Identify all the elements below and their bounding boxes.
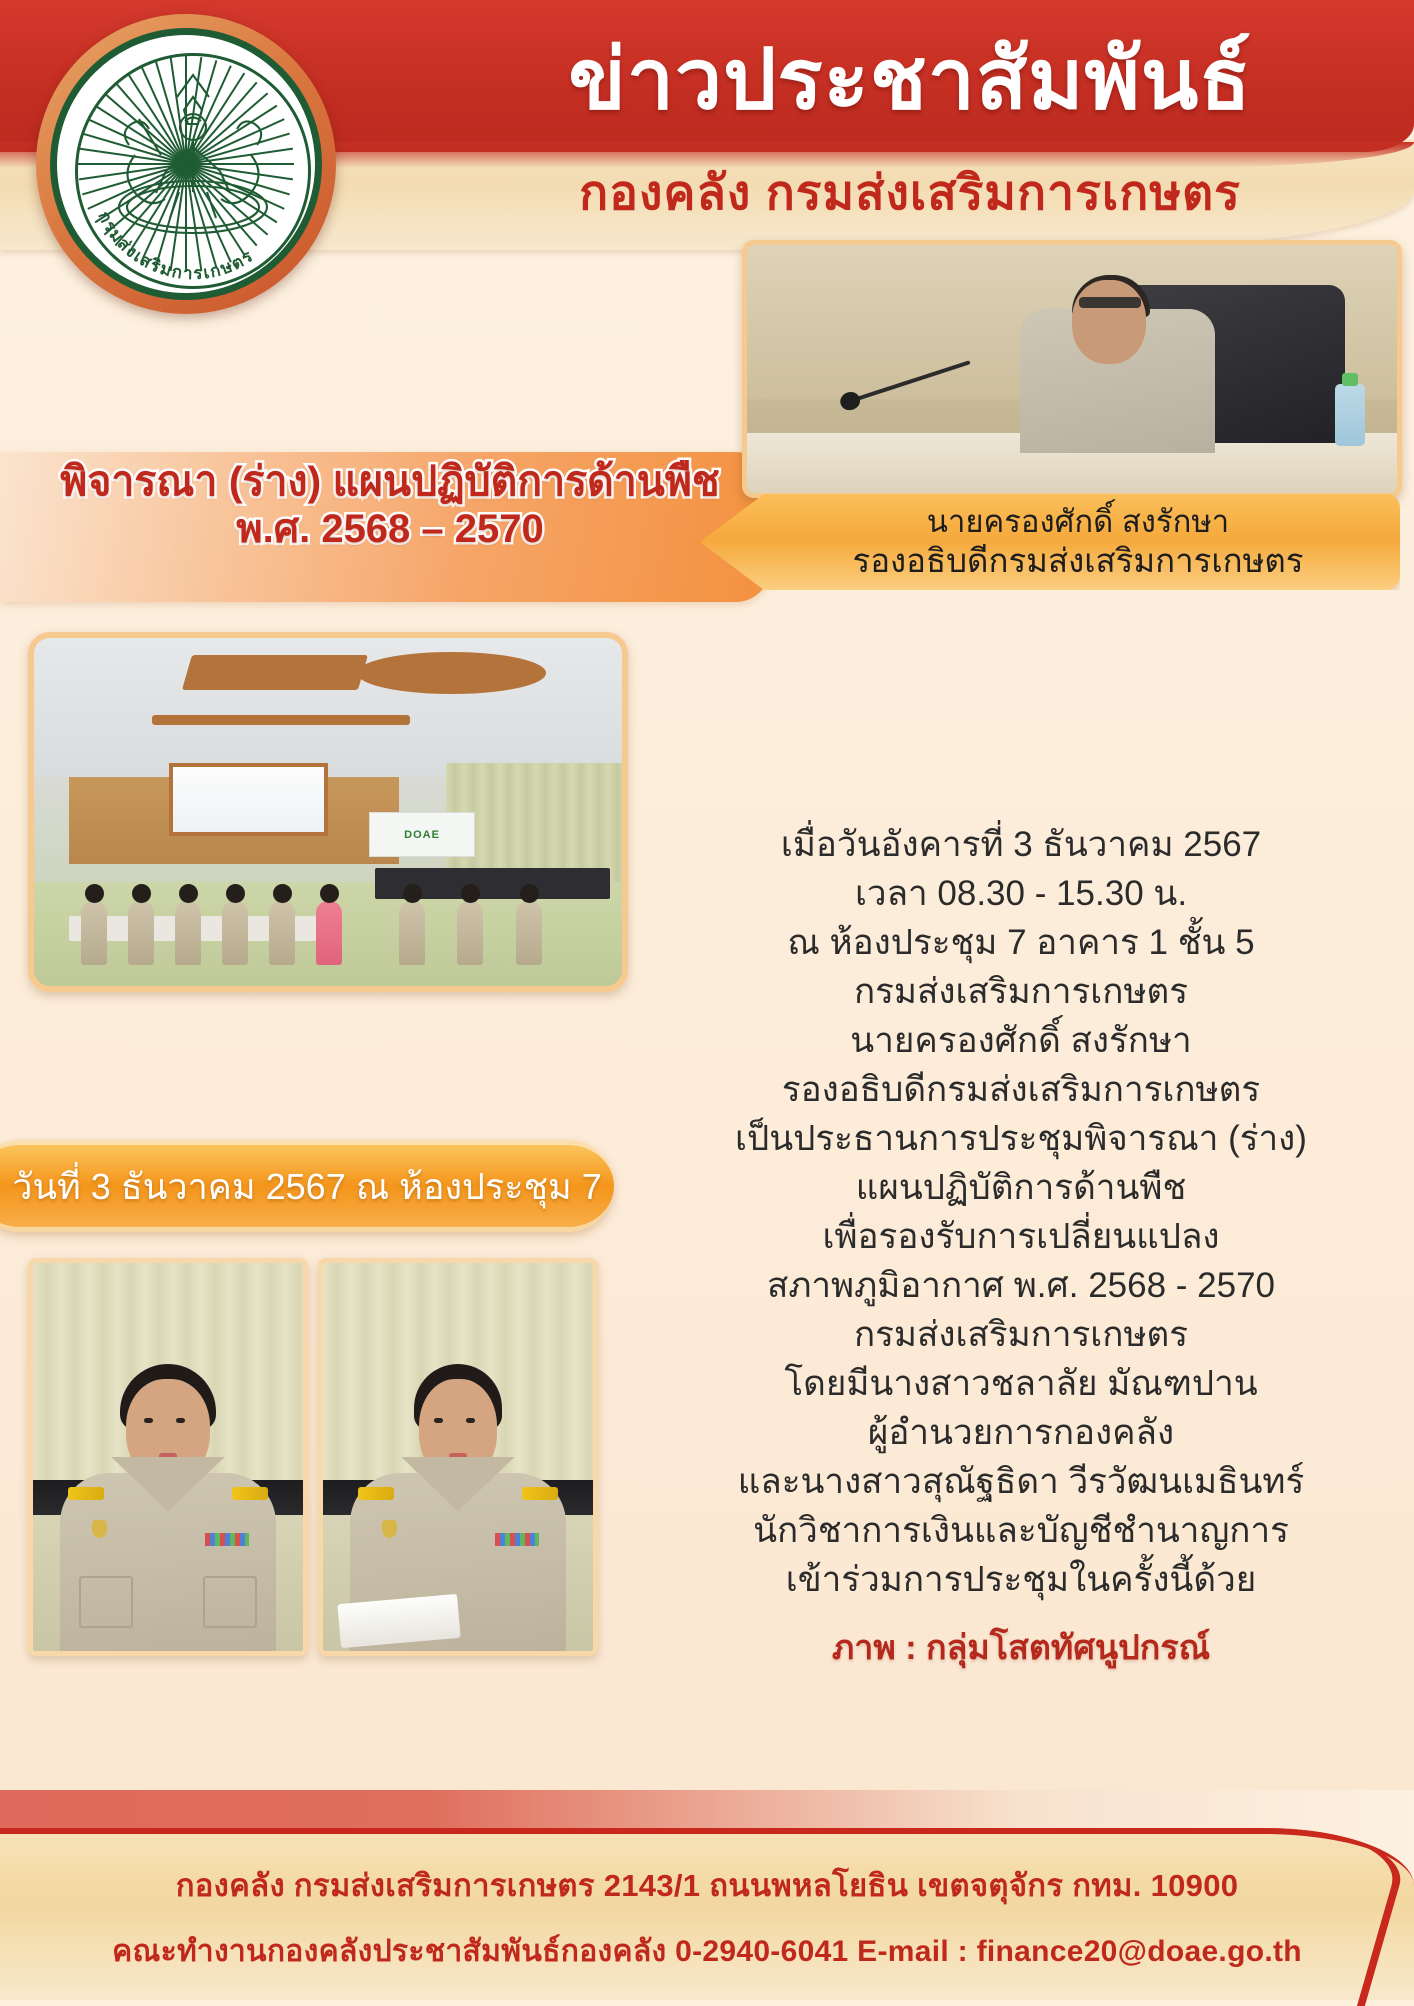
portrait-eye bbox=[144, 1418, 153, 1423]
article-line: เวลา 08.30 - 15.30 น. bbox=[640, 869, 1402, 918]
poster-page: ข่าวประชาสัมพันธ์ กองคลัง กรมส่งเสริมการ… bbox=[0, 0, 1414, 2000]
meeting-attendee bbox=[516, 901, 542, 965]
article-line: รองอธิบดีกรมส่งเสริมการเกษตร bbox=[640, 1065, 1402, 1114]
meeting-projector-screen bbox=[169, 763, 328, 836]
footer-contact: คณะทำงานกองคลังประชาสัมพันธ์กองคลัง 0-29… bbox=[112, 1928, 1302, 1975]
meeting-attendee bbox=[457, 901, 483, 965]
portrait-epaulette bbox=[68, 1487, 104, 1500]
meeting-attendee bbox=[222, 901, 248, 965]
meeting-room-photo: DOAE bbox=[28, 632, 628, 992]
portrait-eye bbox=[466, 1418, 475, 1423]
meeting-ceiling-beam bbox=[182, 655, 368, 690]
article-line: สภาพภูมิอากาศ พ.ศ. 2568 - 2570 bbox=[640, 1261, 1402, 1310]
article-line: และนางสาวสุณัฐธิดา วีรวัฒนเมธินทร์ bbox=[640, 1457, 1402, 1506]
portrait-epaulette bbox=[358, 1487, 394, 1500]
meeting-attendee bbox=[399, 901, 425, 965]
page-subtitle: กองคลัง กรมส่งเสริมการเกษตร bbox=[420, 150, 1400, 236]
meeting-attendee bbox=[316, 901, 342, 965]
article-line: เข้าร่วมการประชุมในครั้งนี้ด้วย bbox=[640, 1555, 1402, 1604]
backdrop-logo-text: DOAE bbox=[404, 829, 440, 841]
portrait-pocket bbox=[79, 1576, 133, 1628]
meeting-backdrop: DOAE bbox=[369, 812, 475, 857]
article-line: เมื่อวันอังคารที่ 3 ธันวาคม 2567 bbox=[640, 820, 1402, 869]
executive-photo bbox=[742, 240, 1402, 498]
portrait-epaulette bbox=[232, 1487, 268, 1500]
svg-text:กรมส่งเสริมการเกษตร: กรมส่งเสริมการเกษตร bbox=[94, 208, 257, 283]
article-line: เพื่อรองรับการเปลี่ยนแปลง bbox=[640, 1212, 1402, 1261]
headline-line1: พิจารณา (ร่าง) แผนปฏิบัติการด้านพืช bbox=[40, 458, 740, 506]
portrait-ribbon-bar bbox=[495, 1533, 539, 1546]
portrait-eye bbox=[176, 1418, 185, 1423]
meeting-attendee bbox=[128, 901, 154, 965]
date-location-pill: วันที่ 3 ธันวาคม 2567 ณ ห้องประชุม 7 bbox=[0, 1140, 614, 1232]
portrait-ribbon-bar bbox=[205, 1533, 249, 1546]
portrait-eye bbox=[434, 1418, 443, 1423]
meeting-attendee bbox=[81, 901, 107, 965]
page-title: ข่าวประชาสัมพันธ์ bbox=[420, 12, 1400, 144]
photo-credit: ภาพ : กลุ่มโสตทัศนูปกรณ์ bbox=[640, 1620, 1402, 1674]
executive-name-badge: นายครองศักดิ์ สงรักษา รองอธิบดีกรมส่งเสร… bbox=[700, 494, 1400, 590]
headline: พิจารณา (ร่าง) แผนปฏิบัติการด้านพืช พ.ศ.… bbox=[40, 458, 740, 552]
doae-seal-icon: กรมส่งเสริมการเกษตร bbox=[36, 14, 336, 314]
date-location-text: วันที่ 3 ธันวาคม 2567 ณ ห้องประชุม 7 bbox=[0, 1158, 602, 1215]
article-body: เมื่อวันอังคารที่ 3 ธันวาคม 2567เวลา 08.… bbox=[640, 820, 1402, 1604]
portrait-pocket bbox=[203, 1576, 257, 1628]
article-line: กรมส่งเสริมการเกษตร bbox=[640, 1310, 1402, 1359]
seal-text-ring: กรมส่งเสริมการเกษตร bbox=[57, 35, 322, 300]
article-line: นายครองศักดิ์ สงรักษา bbox=[640, 1016, 1402, 1065]
article-line: ผู้อำนวยการกองคลัง bbox=[640, 1408, 1402, 1457]
photo-person-glasses bbox=[1079, 297, 1141, 308]
footer-address: กองคลัง กรมส่งเสริมการเกษตร 2143/1 ถนนพห… bbox=[176, 1860, 1239, 1910]
portrait-photo-director bbox=[28, 1258, 308, 1656]
portrait-epaulette bbox=[522, 1487, 558, 1500]
headline-line2: พ.ศ. 2568 – 2570 bbox=[40, 506, 740, 552]
executive-name: นายครองศักดิ์ สงรักษา bbox=[927, 503, 1229, 541]
photo-person-head bbox=[1072, 280, 1146, 364]
seal-inner-disc: กรมส่งเสริมการเกษตร bbox=[50, 28, 322, 300]
photo-water-bottle bbox=[1335, 384, 1365, 446]
portrait-photo-officer bbox=[318, 1258, 598, 1656]
meeting-attendee bbox=[269, 901, 295, 965]
article-line: กรมส่งเสริมการเกษตร bbox=[640, 967, 1402, 1016]
meeting-ceiling-beam bbox=[152, 715, 411, 725]
executive-role: รองอธิบดีกรมส่งเสริมการเกษตร bbox=[852, 541, 1303, 581]
article-line: ณ ห้องประชุม 7 อาคาร 1 ชั้น 5 bbox=[640, 918, 1402, 967]
article-line: เป็นประธานการประชุมพิจารณา (ร่าง) bbox=[640, 1114, 1402, 1163]
meeting-attendee bbox=[175, 901, 201, 965]
article-line: โดยมีนางสาวชลาลัย มัณฑปาน bbox=[640, 1359, 1402, 1408]
article-line: นักวิชาการเงินและบัญชีชำนาญการ bbox=[640, 1506, 1402, 1555]
footer-contact-band: กองคลัง กรมส่งเสริมการเกษตร 2143/1 ถนนพห… bbox=[0, 1828, 1414, 2000]
meeting-ceiling-disc bbox=[357, 652, 545, 694]
article-line: แผนปฏิบัติการด้านพืช bbox=[640, 1163, 1402, 1212]
